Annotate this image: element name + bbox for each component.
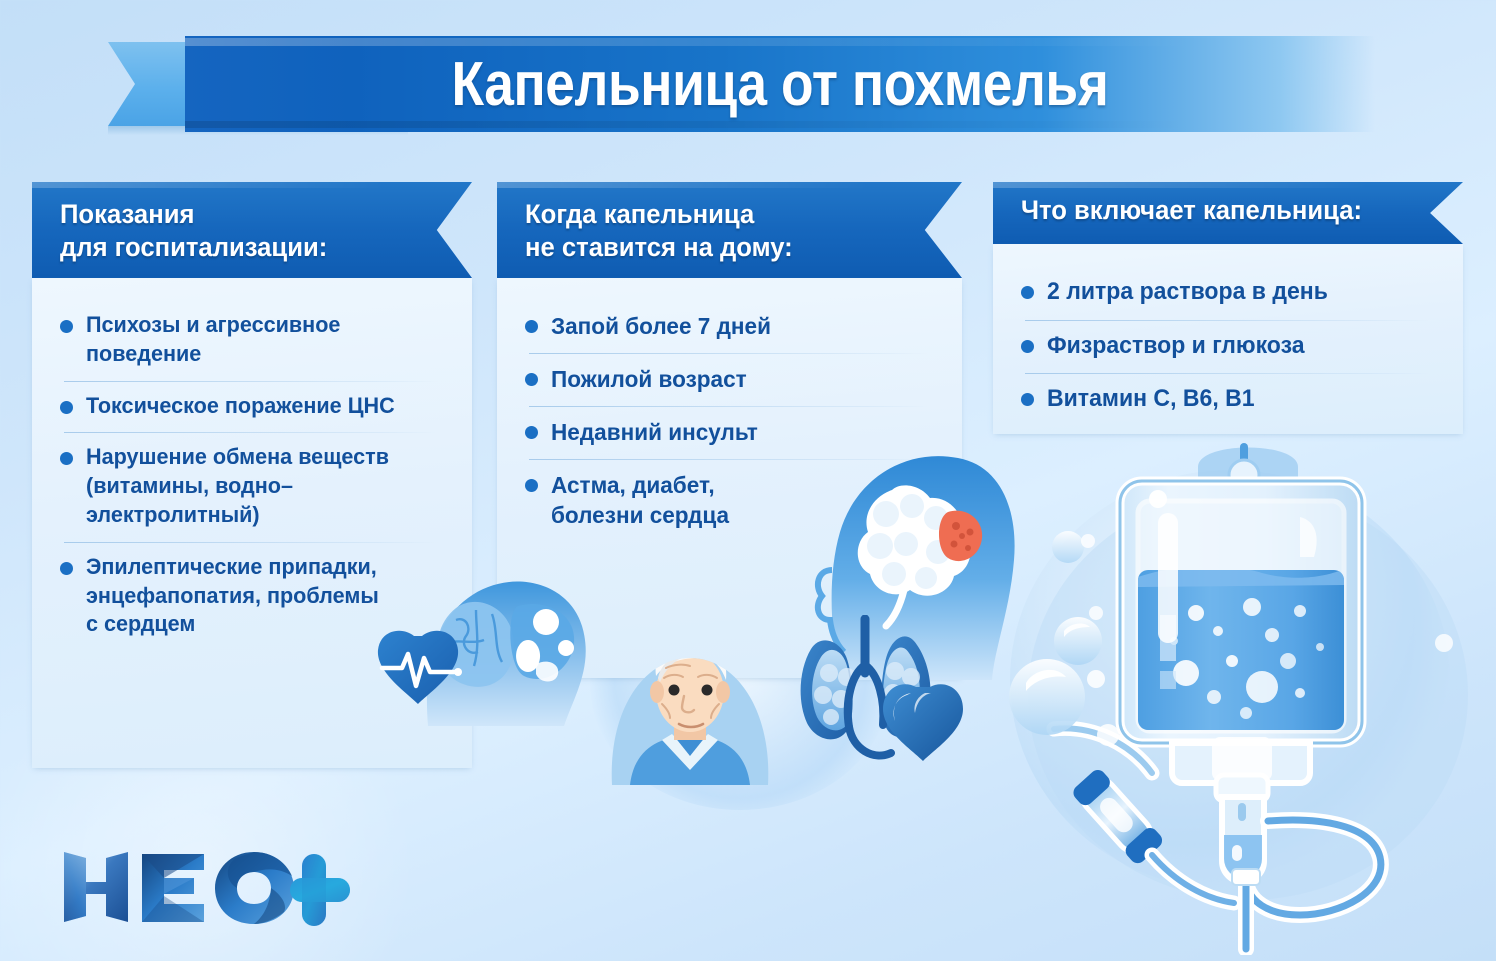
list-item: Астма, диабет, болезни сердца (515, 459, 944, 542)
list-item-text: Запой более 7 дней (551, 311, 771, 341)
bullet-dot-icon (525, 320, 538, 333)
neo-plus-logo (58, 838, 358, 934)
bullet-dot-icon (1021, 286, 1034, 299)
list-item: Пожилой возраст (515, 353, 944, 406)
list-item: Недавний инсульт (515, 406, 944, 459)
column-1-header: Показания для госпитализации: (32, 182, 472, 278)
list-item: Витамин С, В6, В1 (1011, 373, 1445, 427)
bullet-dot-icon (60, 401, 73, 414)
bullet-dot-icon (1021, 393, 1034, 406)
bullet-dot-icon (525, 426, 538, 439)
iv-drip-bag-illustration (1000, 425, 1480, 955)
list-item-text: Психозы и агрессивное поведение (86, 311, 340, 369)
column-3-header: Что включает капельница: (993, 182, 1463, 244)
list-item: Физраствор и глюкоза (1011, 320, 1445, 374)
column-1-header-text: Показания для госпитализации: (60, 198, 419, 264)
list-item-text: Нарушение обмена веществ (витамины, водн… (86, 443, 435, 529)
bullet-dot-icon (60, 562, 73, 575)
title-banner: Капельница от похмелья (0, 28, 1496, 140)
list-item-text: Пожилой возраст (551, 364, 747, 394)
list-item-text: Витамин С, В6, В1 (1047, 384, 1255, 415)
list-item-text: Недавний инсульт (551, 417, 758, 447)
list-item: Эпилептические припадки, энцефапопатия, … (50, 542, 454, 651)
background-blob-right (1010, 470, 1450, 890)
list-item: 2 литра раствора в день (1011, 266, 1445, 320)
list-item-text: Астма, диабет, болезни сердца (551, 470, 729, 530)
bullet-dot-icon (1021, 340, 1034, 353)
column-2-header: Когда капельница не ставится на дому: (497, 182, 962, 278)
list-item-text: 2 литра раствора в день (1047, 277, 1328, 308)
column-3-body: 2 литра раствора в день Физраствор и глю… (993, 244, 1463, 434)
list-item: Нарушение обмена веществ (витамины, водн… (50, 432, 454, 541)
list-item: Токсическое поражение ЦНС (50, 381, 454, 433)
bullet-dot-icon (60, 452, 73, 465)
bullet-dot-icon (525, 373, 538, 386)
column-2-body: Запой более 7 дней Пожилой возраст Недав… (497, 278, 962, 678)
list-item-text: Эпилептические припадки, энцефапопатия, … (86, 553, 379, 639)
column-2-header-text: Когда капельница не ставится на дому: (525, 198, 908, 264)
list-item-text: Токсическое поражение ЦНС (86, 392, 395, 421)
column-indications: Показания для госпитализации: Психозы и … (32, 182, 472, 768)
column-3-header-text: Что включает капельница: (1021, 194, 1409, 227)
bullet-dot-icon (60, 320, 73, 333)
list-item: Запой более 7 дней (515, 300, 944, 353)
column-contents: Что включает капельница: 2 литра раствор… (993, 182, 1463, 434)
list-item-text: Физраствор и глюкоза (1047, 331, 1305, 362)
list-item: Психозы и агрессивное поведение (50, 300, 454, 381)
column-contraindications: Когда капельница не ставится на дому: За… (497, 182, 962, 678)
column-1-body: Психозы и агрессивное поведение Токсичес… (32, 278, 472, 768)
bullet-dot-icon (525, 479, 538, 492)
page-title: Капельница от похмелья (268, 36, 1291, 132)
